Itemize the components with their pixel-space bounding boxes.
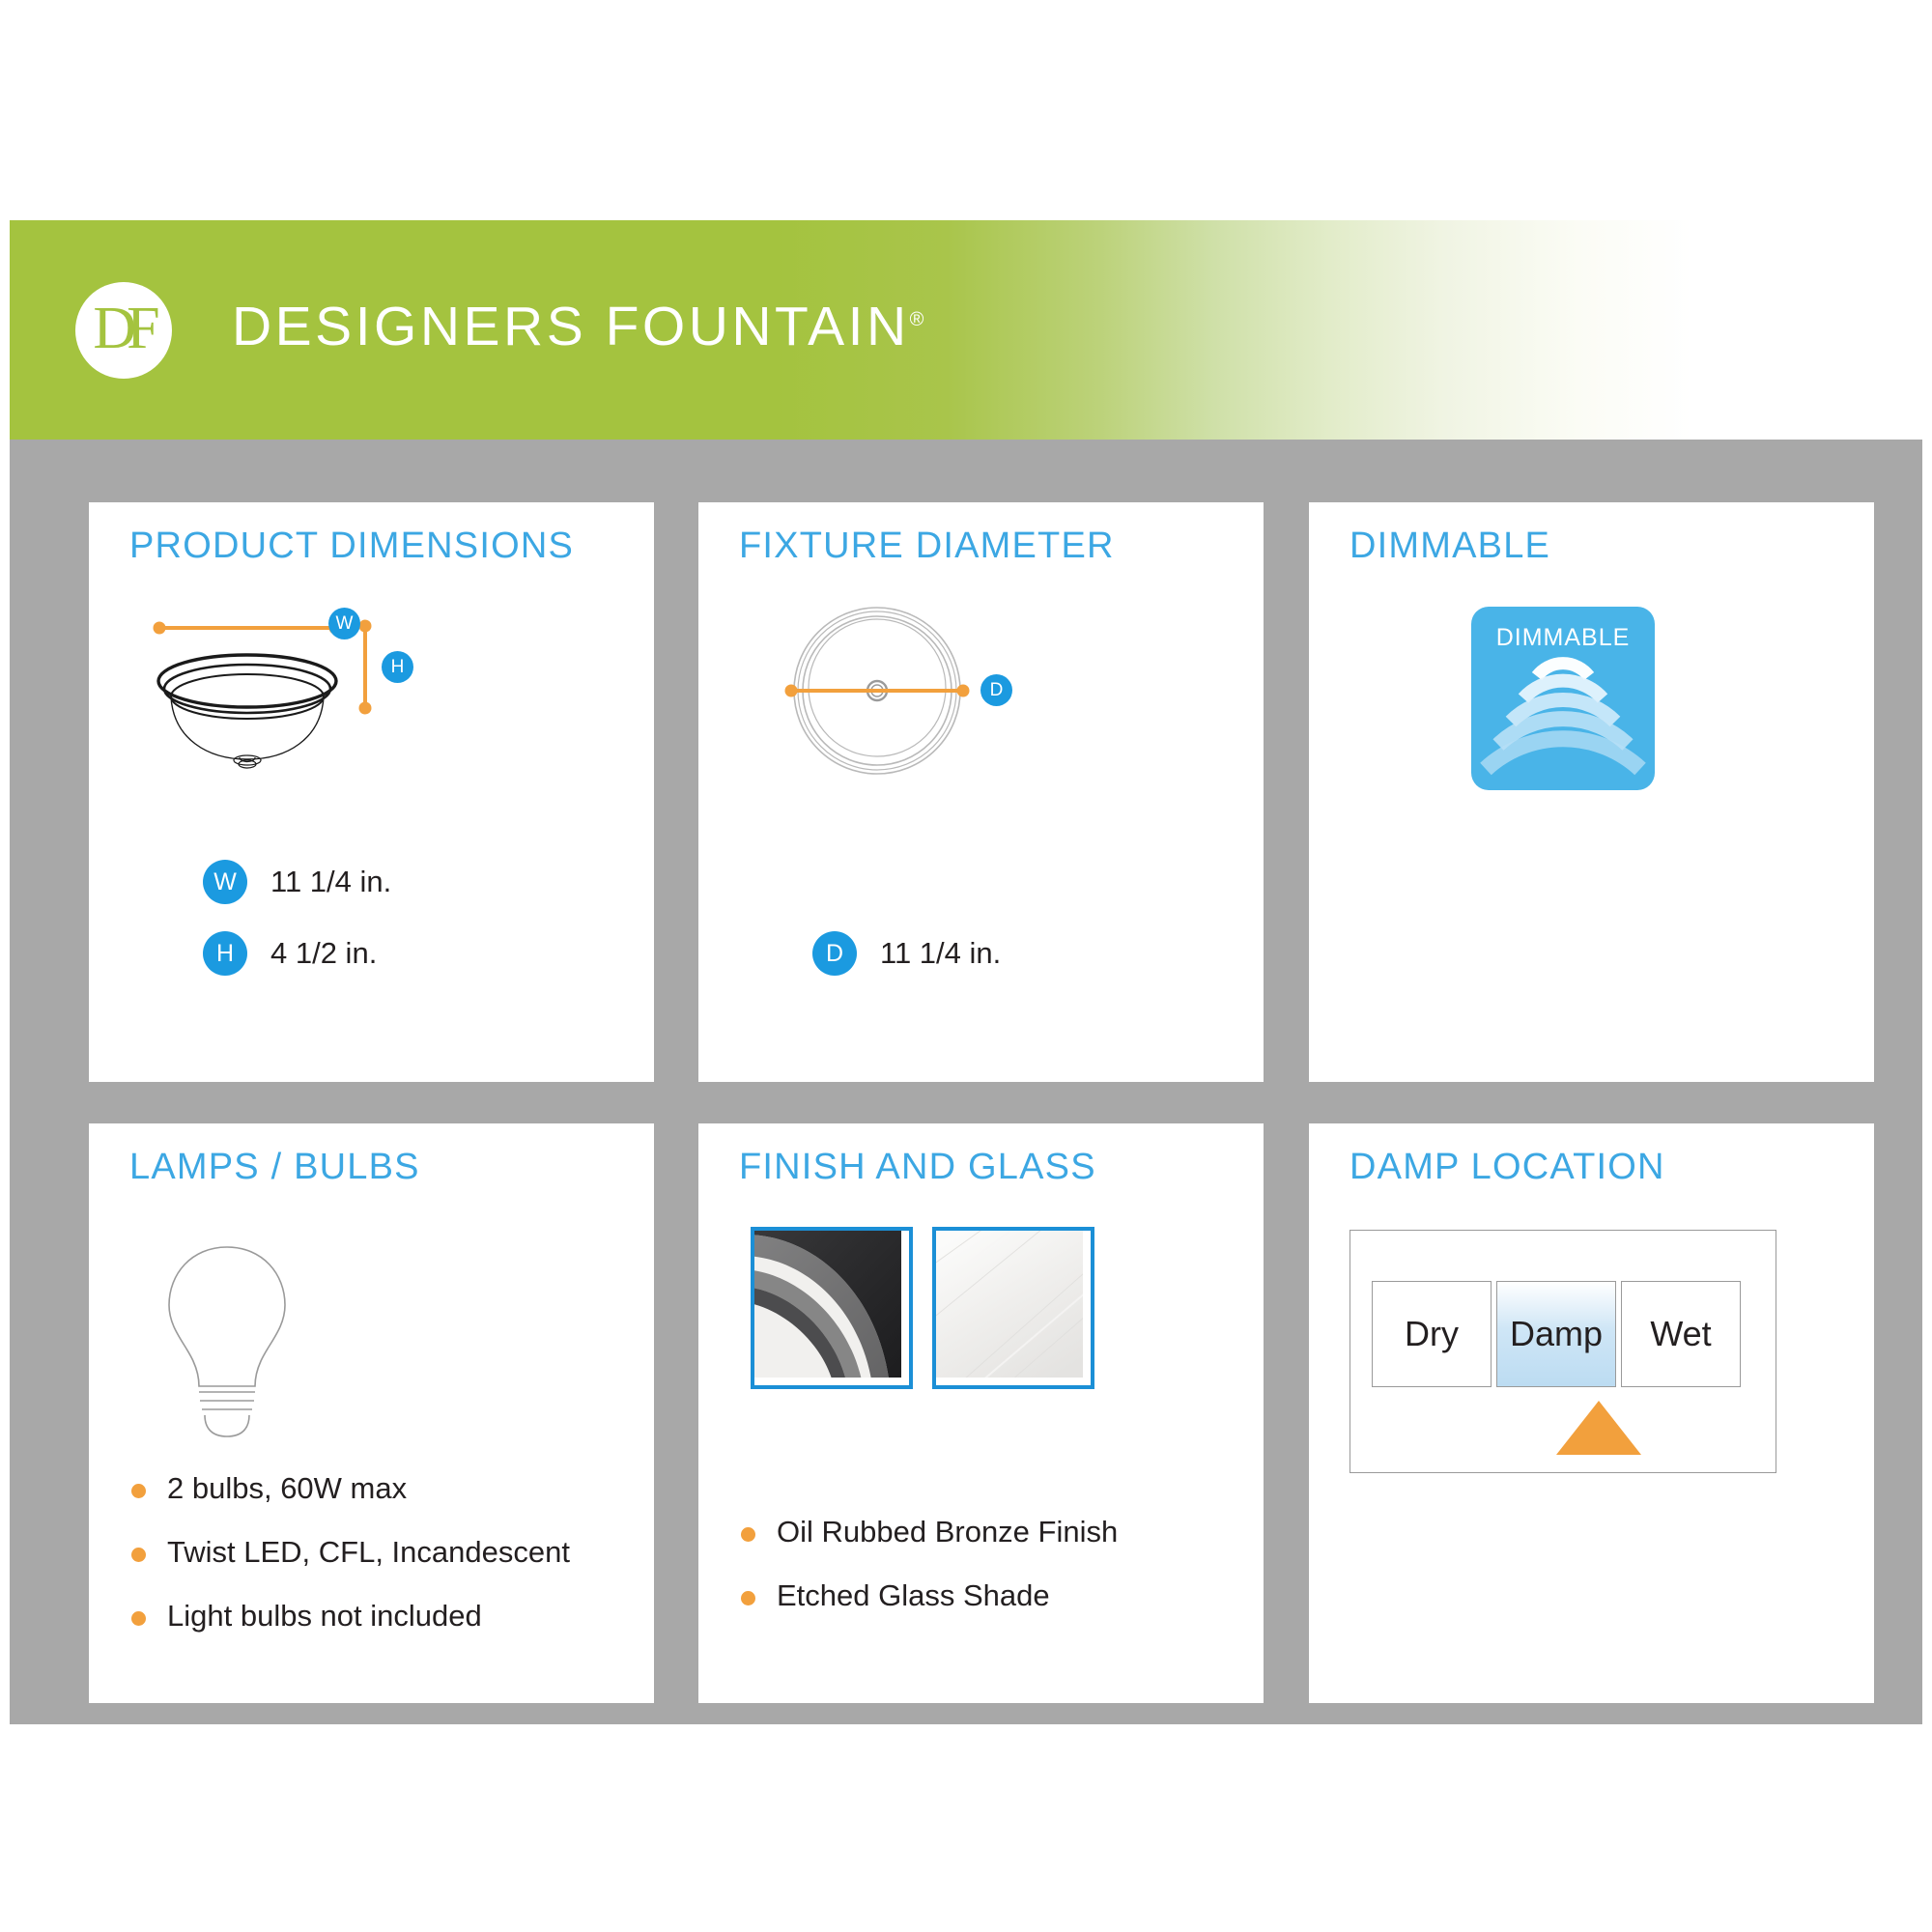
finish-bullet-text: Oil Rubbed Bronze Finish <box>777 1515 1118 1549</box>
bronze-finish-image <box>754 1231 901 1378</box>
finish-bullet-list: Oil Rubbed Bronze Finish Etched Glass Sh… <box>741 1515 1118 1642</box>
lamps-bullet-text: Twist LED, CFL, Incandescent <box>167 1535 570 1570</box>
dimension-value-width: 11 1/4 in. <box>270 865 391 899</box>
list-item: Oil Rubbed Bronze Finish <box>741 1515 1118 1549</box>
dimension-row-width: W 11 1/4 in. <box>203 860 391 904</box>
spec-sheet: DF DESIGNERS FOUNTAIN® PRODUCT DIMENSION… <box>0 0 1932 1932</box>
card-title-lamps-bulbs: LAMPS / BULBS <box>129 1147 420 1188</box>
list-item: Etched Glass Shade <box>741 1578 1118 1613</box>
card-title-damp-location: DAMP LOCATION <box>1350 1147 1665 1188</box>
badge-width-marker: W <box>328 608 360 639</box>
card-title-product-dimensions: PRODUCT DIMENSIONS <box>129 526 574 567</box>
selected-location-arrow-icon <box>1556 1401 1641 1455</box>
card-finish-and-glass: FINISH AND GLASS <box>698 1123 1264 1703</box>
badge-diameter: D <box>812 931 857 976</box>
list-item: 2 bulbs, 60W max <box>131 1471 570 1506</box>
bullet-dot-icon <box>741 1591 755 1605</box>
card-damp-location: DAMP LOCATION Dry Damp Wet <box>1309 1123 1874 1703</box>
swatch-etched-glass <box>932 1227 1094 1389</box>
light-bulb-icon <box>135 1228 319 1450</box>
brand-name: DESIGNERS FOUNTAIN® <box>232 295 923 358</box>
bullet-dot-icon <box>131 1548 146 1562</box>
fixture-diameter-drawing: D <box>698 580 1264 802</box>
dimension-value-height: 4 1/2 in. <box>270 936 377 971</box>
location-options: Dry Damp Wet <box>1372 1281 1746 1387</box>
card-dimmable: DIMMABLE DIMMABLE <box>1309 502 1874 1082</box>
card-title-fixture-diameter: FIXTURE DIAMETER <box>739 526 1115 567</box>
location-option-wet: Wet <box>1621 1281 1741 1387</box>
dimension-value-diameter: 11 1/4 in. <box>880 936 1001 971</box>
brand-logo: DF <box>75 282 172 379</box>
badge-diameter-marker: D <box>980 674 1012 706</box>
brand-name-text: DESIGNERS FOUNTAIN <box>232 296 910 357</box>
card-fixture-diameter: FIXTURE DIAMETER D D 11 1/4 in. <box>698 502 1264 1082</box>
list-item: Twist LED, CFL, Incandescent <box>131 1535 570 1570</box>
dimension-row-diameter: D 11 1/4 in. <box>812 931 1001 976</box>
badge-height: H <box>203 931 247 976</box>
bullet-dot-icon <box>741 1527 755 1542</box>
card-title-dimmable: DIMMABLE <box>1350 526 1550 567</box>
dimmer-waves-icon <box>1471 607 1655 790</box>
lamps-bullet-text: 2 bulbs, 60W max <box>167 1471 407 1506</box>
dimmable-icon: DIMMABLE <box>1471 607 1655 790</box>
etched-glass-image <box>936 1231 1083 1378</box>
bullet-dot-icon <box>131 1484 146 1498</box>
flush-mount-side-view-icon <box>89 580 654 802</box>
location-option-dry: Dry <box>1372 1281 1492 1387</box>
product-dimensions-drawing: W H <box>89 580 654 802</box>
lamps-bullet-list: 2 bulbs, 60W max Twist LED, CFL, Incande… <box>131 1471 570 1662</box>
registered-trademark-icon: ® <box>910 309 924 330</box>
logo-monogram-icon: DF <box>93 295 150 363</box>
location-rating-diagram: Dry Damp Wet <box>1350 1230 1776 1473</box>
swatch-finish-oil-rubbed-bronze <box>751 1227 913 1389</box>
bullet-dot-icon <box>131 1611 146 1626</box>
lamps-bullet-text: Light bulbs not included <box>167 1599 482 1634</box>
location-option-damp: Damp <box>1496 1281 1616 1387</box>
list-item: Light bulbs not included <box>131 1599 570 1634</box>
dimension-row-height: H 4 1/2 in. <box>203 931 377 976</box>
card-lamps-bulbs: LAMPS / BULBS 2 bulbs, 60W max Twist LED… <box>89 1123 654 1703</box>
badge-width: W <box>203 860 247 904</box>
badge-height-marker: H <box>382 651 413 683</box>
card-product-dimensions: PRODUCT DIMENSIONS <box>89 502 654 1082</box>
card-title-finish-and-glass: FINISH AND GLASS <box>739 1147 1096 1188</box>
finish-bullet-text: Etched Glass Shade <box>777 1578 1050 1613</box>
